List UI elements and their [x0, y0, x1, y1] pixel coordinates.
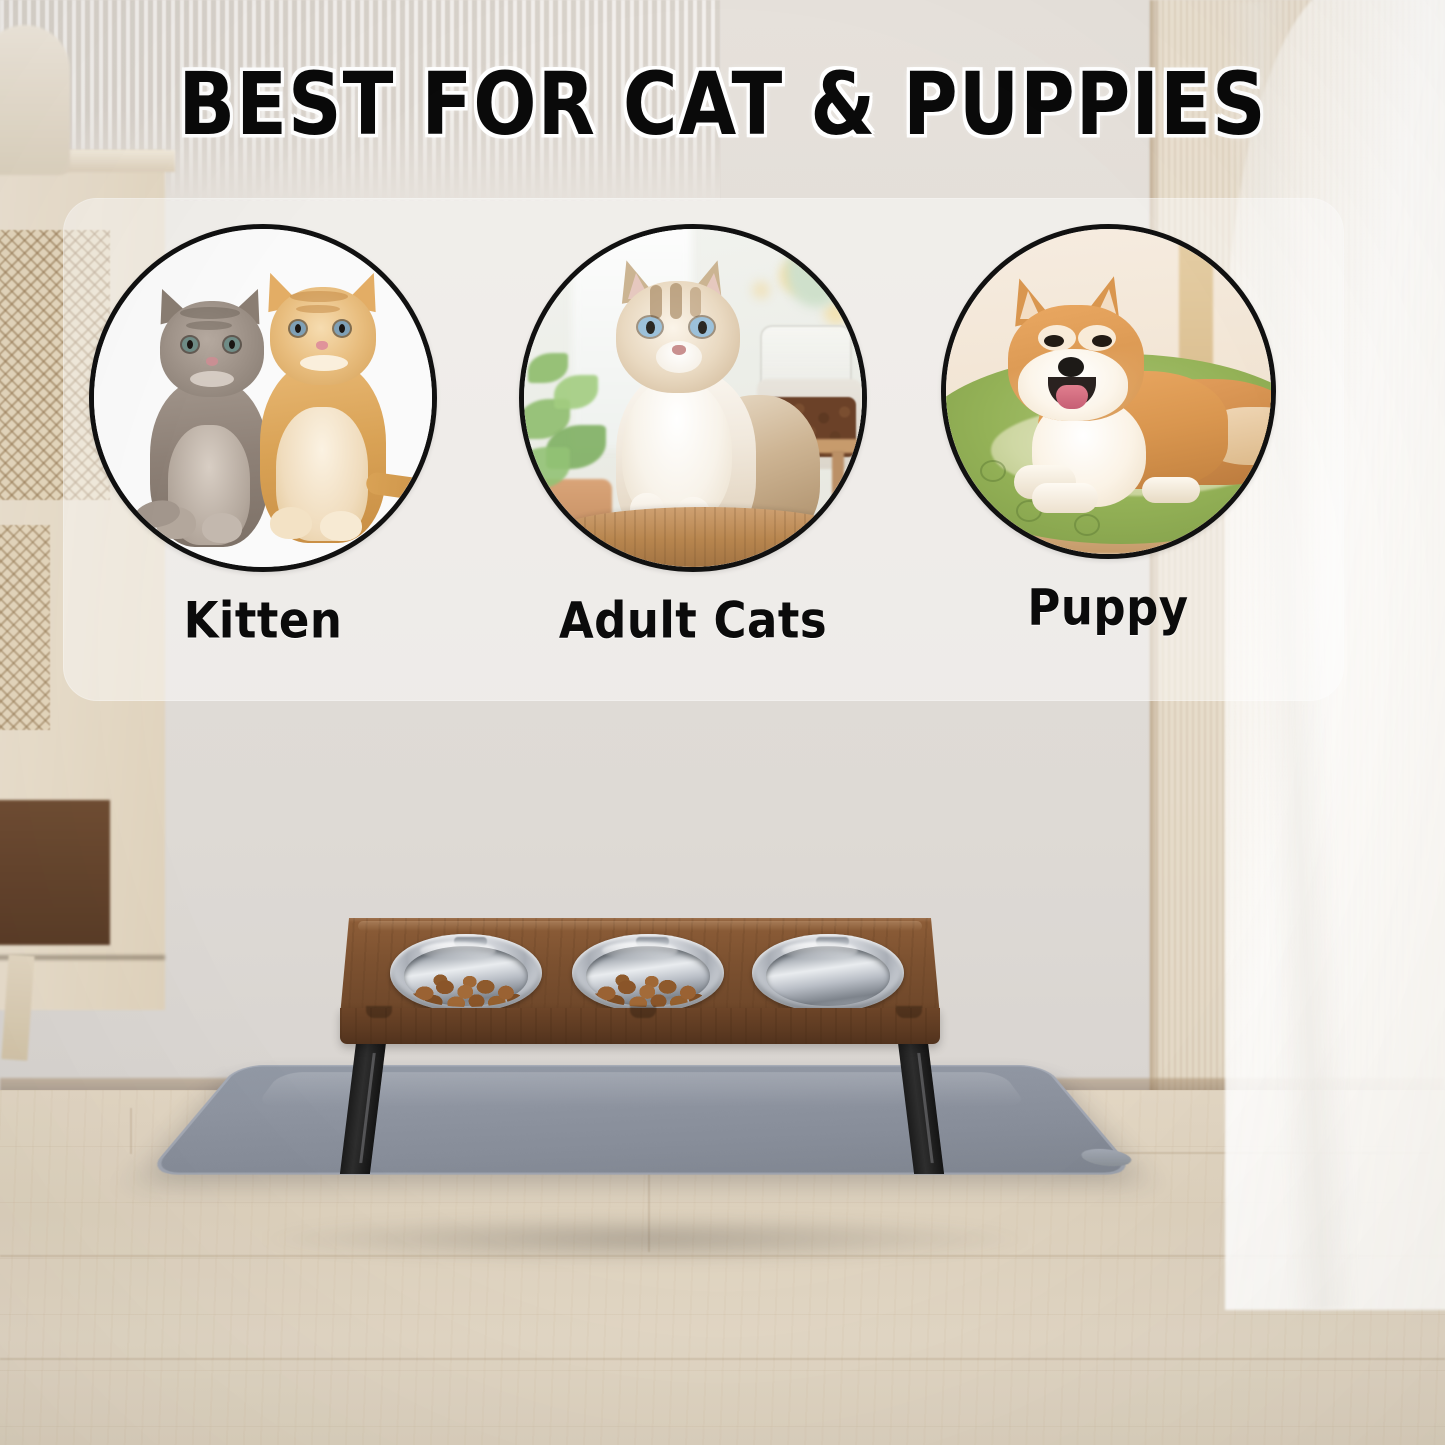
board-leg-notch [896, 1006, 922, 1018]
bowl-gloss [420, 942, 496, 959]
board-leg-notch [630, 1006, 656, 1018]
feeder-wood-board [340, 918, 940, 1044]
bowl-gloss [602, 942, 678, 959]
leg-highlight [917, 1053, 934, 1164]
product-photo-elevated-pet-feeder [0, 0, 1445, 1445]
board-top-highlight [358, 921, 922, 931]
board-leg-notch [366, 1006, 392, 1018]
dry-food-kibble [593, 971, 705, 1007]
silicone-feeding-mat [146, 1065, 1138, 1175]
bowl-gloss [782, 942, 858, 959]
dry-food-kibble [411, 971, 523, 1007]
feeder-bowl-1[interactable] [390, 934, 542, 1012]
product-ground-shadow [250, 1215, 1040, 1263]
feeder-bowl-2[interactable] [572, 934, 724, 1012]
feeder-bowl-3[interactable] [752, 934, 904, 1012]
